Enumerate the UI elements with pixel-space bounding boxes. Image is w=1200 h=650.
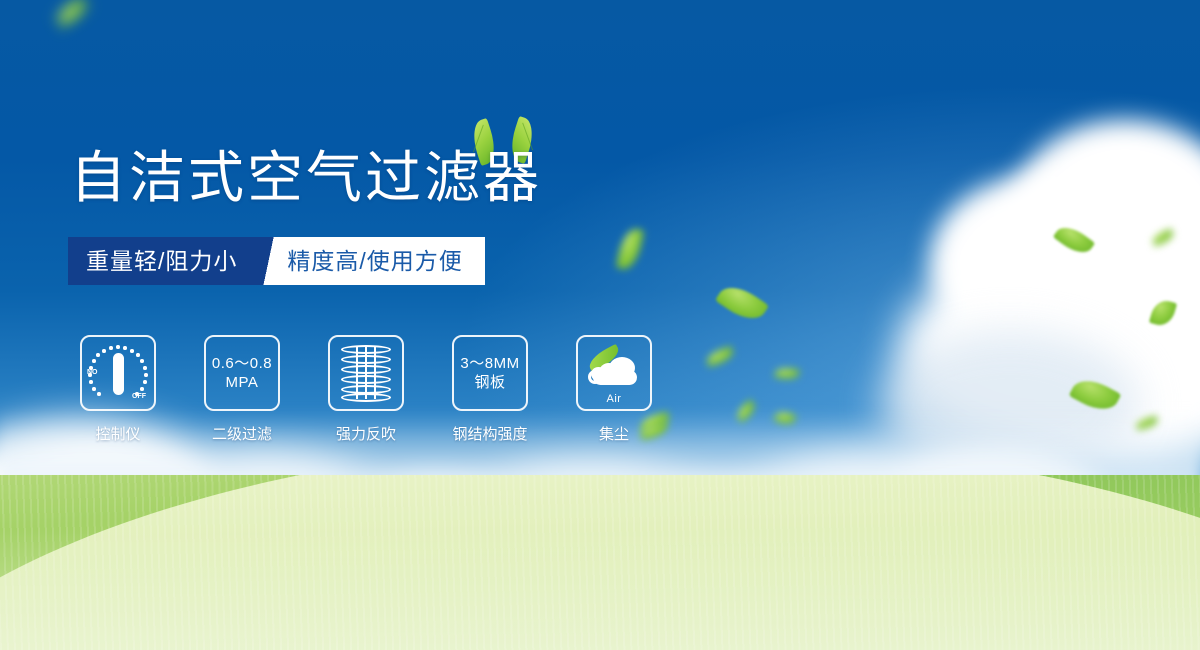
steel-material: 钢板: [474, 373, 505, 392]
feature-item-steel[interactable]: 3〜8MM 钢板 钢结构强度: [452, 335, 528, 444]
grass-field: [0, 475, 1200, 650]
feature-label: 集尘: [599, 423, 629, 444]
feature-icon-box: 0.6〜0.8 MPA: [204, 335, 280, 411]
steel-thickness: 3〜8MM: [460, 354, 519, 373]
feature-icon-box: NO OFF: [80, 335, 156, 411]
feature-icon-box: 3〜8MM 钢板: [452, 335, 528, 411]
subtitle-left-text: 重量轻/阻力小: [68, 237, 257, 285]
gauge-icon: NO OFF: [88, 344, 148, 402]
page-title: 自洁式空气过滤器: [70, 144, 542, 212]
air-label: Air: [585, 393, 643, 405]
feature-label: 控制仪: [95, 423, 140, 444]
subtitle-right-text: 精度高/使用方便: [283, 237, 484, 285]
feature-item-control[interactable]: NO OFF 控制仪: [80, 335, 156, 444]
product-banner: 自洁式空气过滤器 重量轻/阻力小 精度高/使用方便: [0, 0, 1200, 650]
feature-label: 二级过滤: [212, 423, 272, 444]
pressure-value: 0.6〜0.8: [212, 354, 272, 373]
coil-icon: [341, 345, 391, 401]
feature-icon-box: [328, 335, 404, 411]
feature-item-pressure[interactable]: 0.6〜0.8 MPA 二级过滤: [204, 335, 280, 444]
feature-icon-box: Air: [576, 335, 652, 411]
feature-item-backflush[interactable]: 强力反吹: [328, 335, 404, 444]
pressure-unit: MPA: [226, 373, 259, 392]
subtitle-divider-wedge: [257, 237, 283, 285]
feature-list: NO OFF 控制仪 0.6〜0.8 MPA 二级过滤: [80, 335, 652, 444]
feature-label: 强力反吹: [336, 423, 396, 444]
feature-label: 钢结构强度: [452, 423, 527, 444]
gauge-label-no: NO: [87, 369, 98, 376]
cloud-air-icon: Air: [585, 351, 643, 391]
gauge-label-off: OFF: [132, 393, 146, 400]
subtitle-bar: 重量轻/阻力小 精度高/使用方便: [68, 237, 485, 285]
gauge-needle: [113, 353, 124, 395]
feature-item-dust[interactable]: Air 集尘: [576, 335, 652, 444]
